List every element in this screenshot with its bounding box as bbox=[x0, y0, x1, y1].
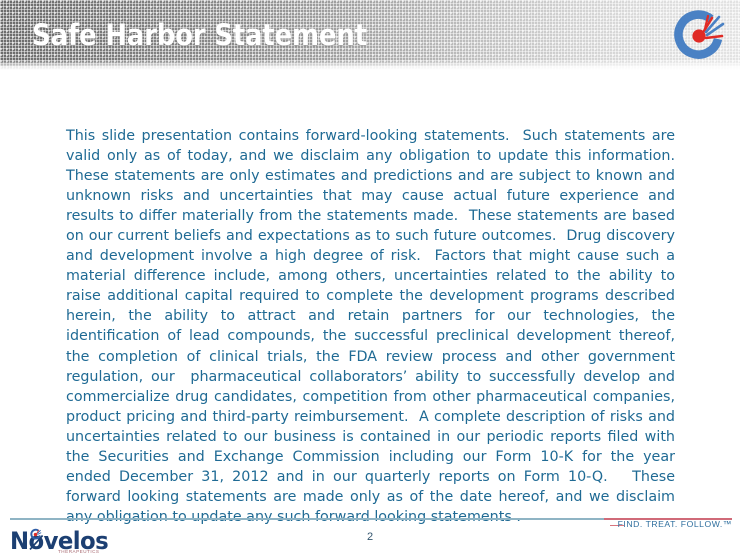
safe-harbor-paragraph: This slide presentation contains forward… bbox=[66, 126, 675, 527]
footer-divider-blue bbox=[10, 518, 618, 520]
novelos-subtitle: THERAPEUTICS bbox=[58, 549, 99, 554]
novelos-logo: Nøvelos THERAPEUTICS bbox=[10, 527, 130, 555]
header-bottom-fade bbox=[0, 60, 740, 70]
target-burst-small-icon bbox=[29, 528, 42, 541]
page-title: Safe Harbor Statement bbox=[32, 18, 367, 52]
target-burst-icon bbox=[670, 6, 728, 64]
footer-tagline: FIND. TREAT. FOLLOW.™ bbox=[618, 519, 732, 529]
slide-canvas: Safe Harbor Statement This slide present… bbox=[0, 0, 740, 555]
